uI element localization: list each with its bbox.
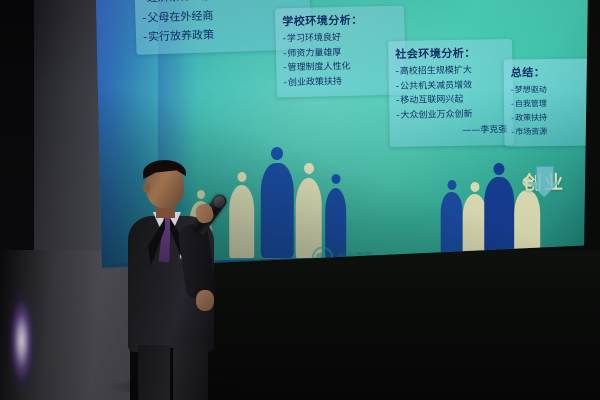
- speaker-hand-lower: [196, 290, 214, 311]
- speaker-figure: [112, 160, 236, 400]
- speaker-trousers: [138, 345, 208, 400]
- speaker-ear: [143, 182, 150, 193]
- speaker-trouser-seam: [170, 348, 173, 400]
- stage-light-glow: [8, 282, 48, 400]
- wall-dark-column: [0, 0, 34, 290]
- presentation-scene: 创业学院 家庭环境分析： 经济条件一般 父母在外经商 实行放养政策 学校环境分析…: [0, 0, 600, 400]
